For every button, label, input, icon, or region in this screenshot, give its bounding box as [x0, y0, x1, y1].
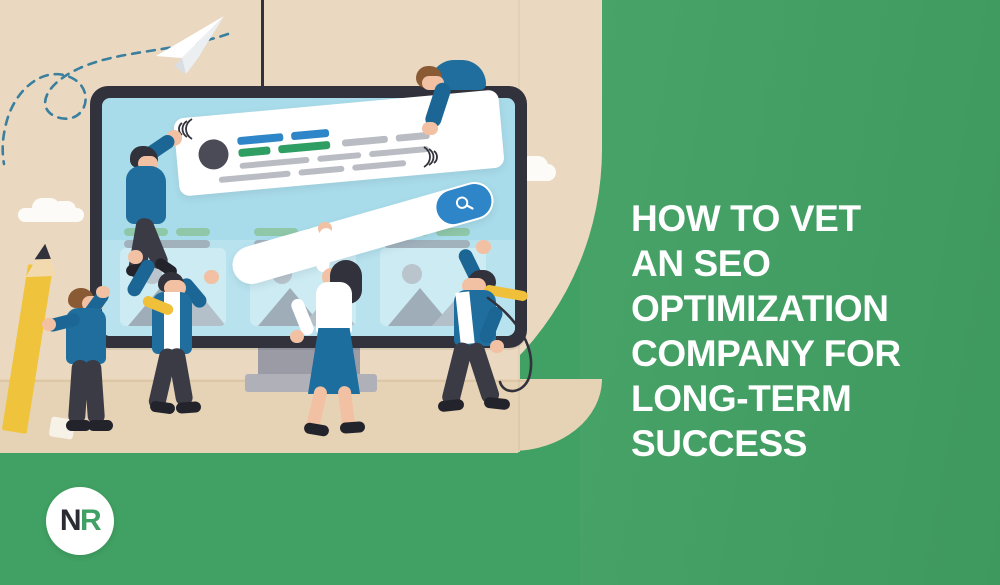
content-bar [352, 160, 406, 171]
crane-cable-vertical [261, 0, 264, 94]
content-bar [239, 157, 309, 169]
search-icon [452, 192, 477, 217]
content-bar [278, 141, 331, 154]
headline-line: LONG-TERM [631, 376, 989, 421]
logo-letter-r: R [80, 504, 100, 537]
logo-letter-n: N [60, 504, 80, 537]
headline-line: OPTIMIZATION [631, 286, 989, 331]
headline-line: SUCCESS [631, 421, 989, 466]
headline-line: HOW TO VET [631, 196, 989, 241]
content-bar [238, 146, 271, 157]
content-bar [342, 136, 388, 147]
paper-plane-icon [152, 14, 230, 76]
rope-loose-end [486, 296, 546, 406]
avatar [197, 138, 230, 171]
logo[interactable]: NR [46, 487, 114, 555]
content-bar [298, 166, 344, 176]
blog-banner: HOW TO VET AN SEO OPTIMIZATION COMPANY F… [0, 0, 1000, 585]
content-bar [219, 171, 291, 184]
motion-lines-icon [420, 144, 440, 170]
headline-line: AN SEO [631, 241, 989, 286]
page-title: HOW TO VET AN SEO OPTIMIZATION COMPANY F… [631, 196, 989, 466]
headline-line: COMPANY FOR [631, 331, 989, 376]
pencil-icon [12, 250, 72, 450]
logo-monogram: NR [60, 506, 100, 536]
content-bar [291, 129, 330, 140]
content-bar [317, 152, 361, 162]
content-bar [237, 133, 284, 145]
content-chip [176, 228, 210, 236]
